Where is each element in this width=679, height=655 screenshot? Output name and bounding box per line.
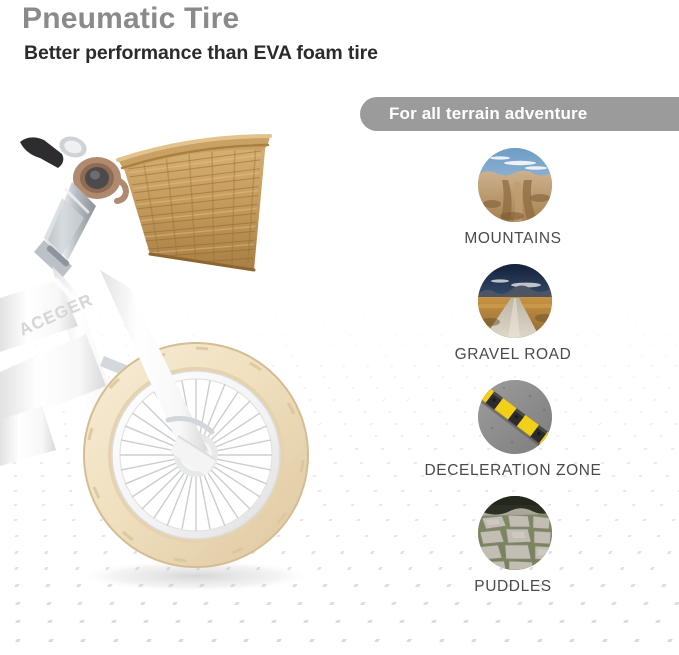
bicycle-illustration — [0, 120, 360, 620]
bicycle-fork — [100, 270, 216, 476]
terrain-item-deceleration-zone: DECELERATION ZONE — [413, 380, 613, 496]
terrain-label: DECELERATION ZONE — [323, 462, 679, 480]
terrain-item-gravel-road: GRAVEL ROAD — [413, 264, 613, 380]
terrain-banner-label: For all terrain adventure — [389, 104, 587, 124]
frame-brand-text: ACEGER — [16, 290, 96, 340]
terrain-item-puddles: PUDDLES — [413, 496, 613, 612]
terrain-label: GRAVEL ROAD — [323, 346, 679, 364]
terrain-list: MOUNTAINS — [413, 148, 613, 612]
gravel-road-icon — [478, 264, 552, 338]
mountains-icon — [478, 148, 552, 222]
terrain-banner: For all terrain adventure — [360, 97, 679, 131]
page-title: Pneumatic Tire — [22, 2, 239, 36]
terrain-item-mountains: MOUNTAINS — [413, 148, 613, 264]
page-subtitle: Better performance than EVA foam tire — [24, 42, 378, 65]
bicycle-front-wheel — [84, 343, 308, 567]
deceleration-zone-icon — [478, 380, 552, 454]
bicycle-handlebar-stem — [20, 133, 126, 278]
terrain-label: PUDDLES — [323, 578, 679, 596]
bicycle-basket — [118, 136, 270, 270]
terrain-label: MOUNTAINS — [323, 230, 679, 248]
puddles-icon — [478, 496, 552, 570]
product-feature-image: ACEGER Pneumatic Tire Better performance… — [0, 0, 679, 655]
bicycle-frame — [0, 266, 141, 466]
